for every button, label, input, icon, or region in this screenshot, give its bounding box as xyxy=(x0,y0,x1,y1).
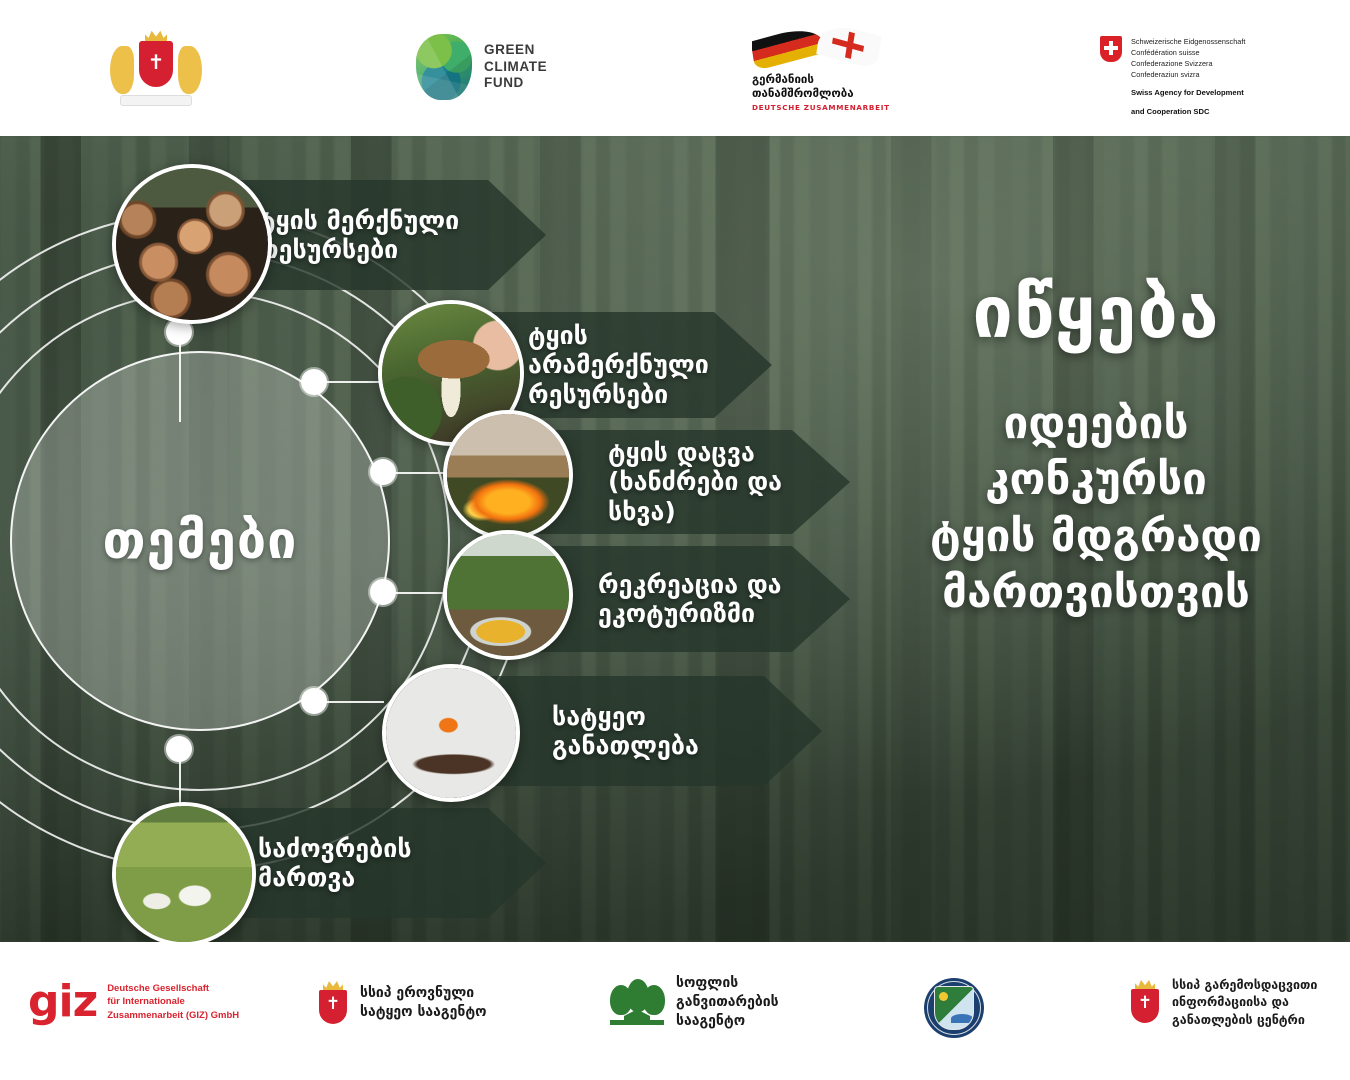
giz-line-3: Zusammenarbeit (GIZ) GmbH xyxy=(107,1009,239,1022)
swiss-line-fr: Confédération suisse xyxy=(1131,47,1245,58)
camping-tent-photo xyxy=(447,534,569,656)
gcf-wordmark: GREEN CLIMATE FUND xyxy=(484,42,547,91)
topic-label-recreation: რეკრეაცია და ეკოტურიზმი xyxy=(598,570,782,629)
giz-line-2: für Internationale xyxy=(107,995,239,1008)
german-flag-band xyxy=(752,26,825,71)
campaign-subtitle: იდეების კონკურსი ტყის მდგრადი მართვისთვი… xyxy=(866,396,1326,621)
swiss-sdc-logo: Schweizerische Eidgenossenschaft Confédé… xyxy=(1100,36,1245,117)
gcf-line-1: GREEN xyxy=(484,42,547,58)
lion-left-icon xyxy=(110,46,134,94)
national-forestry-agency-name: სსიპ ეროვნული სატყეო სააგენტო xyxy=(360,984,487,1022)
georgian-flag-band xyxy=(816,26,882,70)
topic-banner-education[interactable]: სატყეო განათლება xyxy=(470,676,822,786)
topic-label-non-timber: ტყის არამერქნული რესურსები xyxy=(528,321,772,410)
header-logo-bar: ✝ GREEN CLIMATE FUND გერმანიის თანამშრომ… xyxy=(0,0,1350,136)
saint-george-small-icon: ✝ xyxy=(326,996,340,1013)
lion-right-icon xyxy=(178,46,202,94)
swiss-agency-line-1: Swiss Agency for Development xyxy=(1131,87,1245,98)
tree-right-icon xyxy=(643,985,665,1015)
environmental-info-education-centre-logo: ✝ სსიპ გარემოსდაცვითი ინფორმაციისა და გა… xyxy=(1128,976,1317,1028)
gcf-line-3: FUND xyxy=(484,75,547,91)
gc-ka-line-2: თანამშრომლობა xyxy=(752,87,890,101)
motto-ribbon xyxy=(120,95,192,106)
connector-line-3 xyxy=(383,472,445,474)
gc-ka-line-1: გერმანიის xyxy=(752,73,890,87)
giz-logo: giz Deutsche Gesellschaft für Internatio… xyxy=(28,982,239,1022)
swiss-line-rm: Confederaziun svizra xyxy=(1131,69,1245,80)
topics-hub-label: თემები xyxy=(103,511,298,571)
coat-of-arms-small-icon: ✝ xyxy=(316,980,350,1026)
connector-line-1 xyxy=(179,332,181,422)
campaign-title-block: იწყება იდეების კონკურსი ტყის მდგრადი მარ… xyxy=(866,276,1326,621)
saint-george-icon: ✝ xyxy=(145,52,167,74)
national-forestry-agency-logo: ✝ სსიპ ეროვნული სატყეო სააგენტო xyxy=(316,980,487,1026)
swiss-line-de: Schweizerische Eidgenossenschaft xyxy=(1131,36,1245,47)
swiss-agency-line-2: and Cooperation SDC xyxy=(1131,106,1245,117)
crown-icon xyxy=(145,30,167,42)
topic-photo-pasture[interactable] xyxy=(112,802,256,942)
topic-label-timber: ტყის მერქნული რესურსები xyxy=(258,206,459,265)
seal-shield-icon xyxy=(934,986,974,1030)
coat-of-arms-small-icon-2: ✝ xyxy=(1128,979,1162,1025)
gcf-sphere-icon xyxy=(416,34,472,100)
green-climate-fund-logo: GREEN CLIMATE FUND xyxy=(416,34,547,100)
german-georgian-flag-icon xyxy=(752,26,882,72)
swiss-sdc-wordmark: Schweizerische Eidgenossenschaft Confédé… xyxy=(1131,36,1245,117)
topic-photo-timber[interactable] xyxy=(112,164,272,324)
rural-development-agency-logo: სოფლის განვითარების სააგენტო xyxy=(610,974,779,1031)
german-cooperation-wordmark: გერმანიის თანამშრომლობა DEUTSCHE ZUSAMME… xyxy=(752,73,890,112)
connector-line-5 xyxy=(314,701,384,703)
giz-subtitle: Deutsche Gesellschaft für Internationale… xyxy=(107,982,239,1022)
topic-label-protection: ტყის დაცვა (ხანძრები და სხვა) xyxy=(608,438,850,527)
main-forest-panel: თემები ტყის მერქნული რესურსები ტყის არამ… xyxy=(0,136,1350,942)
topics-hub: თემები xyxy=(10,351,390,731)
ground-bar xyxy=(610,1020,664,1025)
topic-banner-protection[interactable]: ტყის დაცვა (ხანძრები და სხვა) xyxy=(530,430,850,534)
topic-label-pasture: საძოვრების მართვა xyxy=(258,834,412,893)
gcf-line-2: CLIMATE xyxy=(484,59,547,75)
topic-label-education: სატყეო განათლება xyxy=(552,702,699,761)
stacked-logs-photo xyxy=(116,168,268,320)
forest-fire-photo xyxy=(447,414,569,536)
grazing-sheep-photo xyxy=(116,806,252,942)
ministry-seal-icon xyxy=(924,978,984,1038)
topic-photo-protection[interactable] xyxy=(443,410,573,540)
environmental-centre-name: სსიპ გარემოსდაცვითი ინფორმაციისა და განა… xyxy=(1172,976,1317,1028)
chainsaw-work-photo xyxy=(386,668,516,798)
german-cooperation-logo: გერმანიის თანამშრომლობა DEUTSCHE ZUSAMME… xyxy=(752,26,890,112)
coat-of-arms-icon: ✝ xyxy=(108,28,204,108)
footer-logo-bar: giz Deutsche Gesellschaft für Internatio… xyxy=(0,942,1350,1080)
topic-banner-recreation[interactable]: რეკრეაცია და ეკოტურიზმი xyxy=(530,546,850,652)
connector-line-4 xyxy=(383,592,445,594)
giz-wordmark: giz xyxy=(28,982,97,1022)
connector-line-2 xyxy=(314,381,382,383)
ministry-seal-logo xyxy=(924,978,984,1038)
saint-george-small-icon-2: ✝ xyxy=(1138,995,1152,1012)
topic-photo-education[interactable] xyxy=(382,664,520,802)
topic-photo-recreation[interactable] xyxy=(443,530,573,660)
rural-development-agency-name: სოფლის განვითარების სააგენტო xyxy=(676,974,779,1031)
giz-line-1: Deutsche Gesellschaft xyxy=(107,982,239,995)
campaign-title: იწყება xyxy=(866,276,1326,348)
gc-de-line: DEUTSCHE ZUSAMMENARBEIT xyxy=(752,103,890,112)
swiss-line-it: Confederazione Svizzera xyxy=(1131,58,1245,69)
trees-house-icon xyxy=(610,979,664,1025)
poster-root: ✝ GREEN CLIMATE FUND გერმანიის თანამშრომ… xyxy=(0,0,1350,1080)
swiss-cross-icon xyxy=(1100,36,1122,62)
georgia-coat-of-arms-logo: ✝ xyxy=(108,28,204,108)
